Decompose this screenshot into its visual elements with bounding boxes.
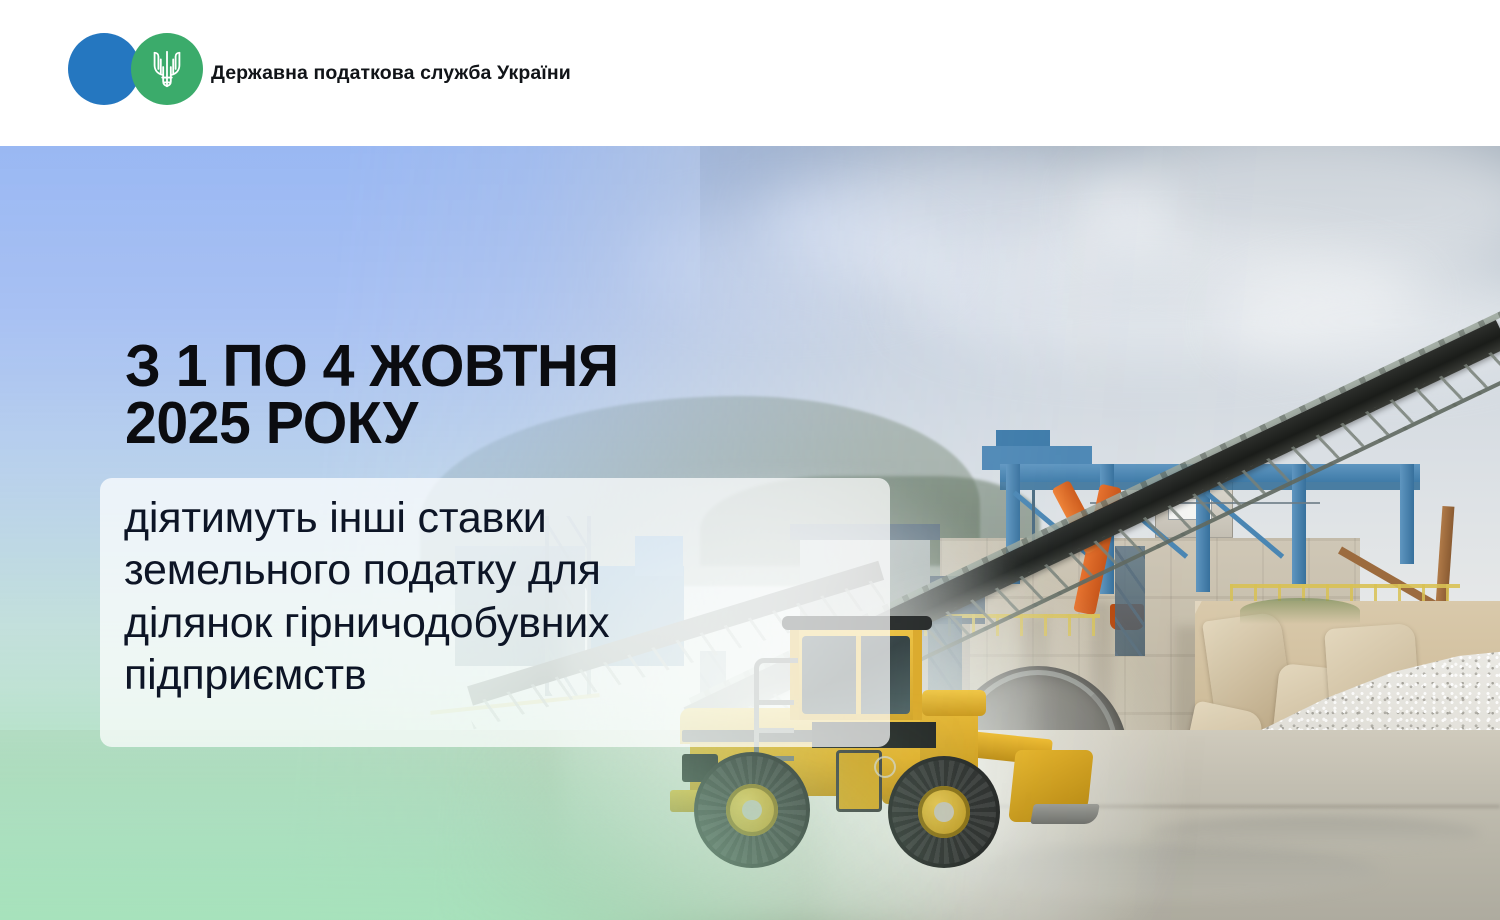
- cloud: [620, 206, 960, 316]
- handrail: [1230, 584, 1460, 588]
- blue-circle-icon: [68, 33, 140, 105]
- quarry-photo: З 1 ПО 4 ЖОВТНЯ 2025 РОКУ діятимуть інші…: [0, 146, 1500, 920]
- ukrainian-trident-icon: [131, 33, 203, 105]
- logo-marks: [68, 33, 203, 113]
- header-band: Державна податкова служба України: [0, 0, 1500, 146]
- rock-vegetation: [1240, 598, 1360, 624]
- poster-root: З 1 ПО 4 ЖОВТНЯ 2025 РОКУ діятимуть інші…: [0, 0, 1500, 920]
- page-subtitle: діятимуть інші ставки земельного податку…: [124, 492, 924, 702]
- brand-logo[interactable]: Державна податкова служба України: [68, 33, 571, 113]
- loader-hub-cap: [934, 802, 954, 822]
- loader-hydraulics: [922, 690, 986, 716]
- page-title: З 1 ПО 4 ЖОВТНЯ 2025 РОКУ: [125, 338, 619, 451]
- loader-articulation-joint: [836, 750, 882, 812]
- loader-badge: [874, 756, 896, 778]
- gantry-column: [1400, 464, 1414, 564]
- wet-ground-patch: [1150, 816, 1480, 850]
- loader-bucket-lip: [1030, 804, 1100, 824]
- loader-hub-cap: [742, 800, 762, 820]
- organization-name: Державна податкова служба України: [211, 60, 571, 87]
